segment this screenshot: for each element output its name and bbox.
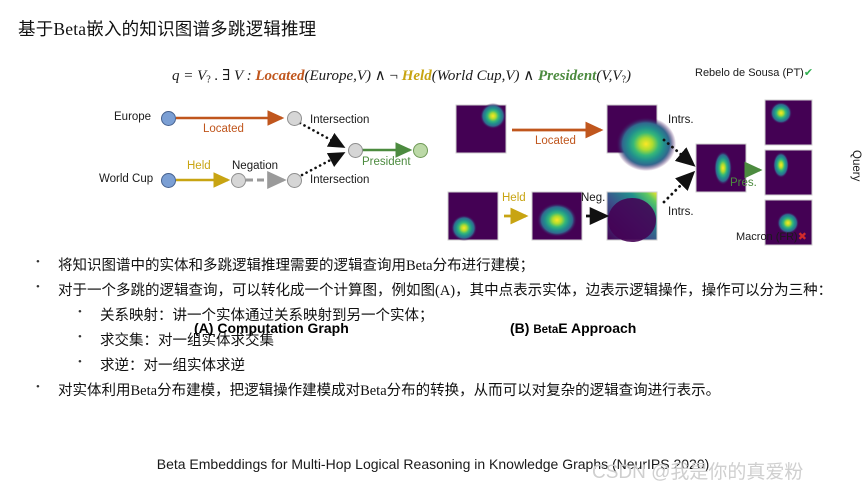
- figure-region: Europe World Cup Located Held Negation I…: [0, 92, 866, 252]
- result-label-incorrect: Macron (FR)✖: [736, 230, 807, 243]
- panel-europe-embedding: [456, 103, 506, 153]
- panel-negation-embedding: [607, 192, 657, 242]
- formula-prefix: q = V: [172, 68, 206, 84]
- bullet-list: 将知识图谱中的实体和多跳逻辑推理需要的逻辑查询用Beta分布进行建模； 对于一个…: [14, 255, 860, 405]
- edge-label-intersection-bottom: Intersection: [310, 174, 369, 186]
- paper-citation: Beta Embeddings for Multi-Hop Logical Re…: [0, 456, 866, 472]
- formula-relation-president: President: [538, 68, 596, 84]
- computation-graph-svg: [104, 92, 434, 202]
- check-icon: ✔: [804, 67, 813, 79]
- betae-approach-panel: Located Held Neg. Intrs. Intrs. Pres. Re…: [440, 92, 866, 252]
- edge-label-negation: Negation: [232, 160, 278, 172]
- node-label-europe: Europe: [114, 111, 151, 123]
- op-label-held: Held: [502, 192, 526, 204]
- page-title: 基于Beta嵌入的知识图谱多跳逻辑推理: [18, 16, 316, 41]
- formula-conj-2: ∧: [520, 68, 538, 84]
- result-label-correct: Rebelo de Sousa (PT)✔: [695, 66, 813, 79]
- formula-args-3-close: ): [626, 68, 631, 84]
- cross-icon: ✖: [798, 231, 807, 243]
- edge-intersection-top: [300, 123, 342, 146]
- bullet-item: 对实体利用Beta分布建模，把逻辑操作建模成对Beta分布的转换，从而可以对复杂…: [14, 380, 860, 402]
- panel-worldcup-embedding: [448, 192, 498, 241]
- betae-svg: [440, 92, 866, 252]
- panel-located-embedding: [607, 105, 676, 171]
- logical-query-formula: q = V? . ∃ V : Located(Europe,V) ∧ ¬ Hel…: [172, 66, 631, 86]
- edge-label-intersection-top: Intersection: [310, 114, 369, 126]
- formula-args-2: (World Cup,V): [432, 68, 520, 84]
- bullet-item: 求交集：对一组实体求交集: [14, 330, 860, 352]
- op-label-intrs-top: Intrs.: [668, 114, 694, 126]
- panel-answer-top: [765, 100, 812, 145]
- edge-label-president: President: [362, 156, 411, 168]
- op-label-negation: Neg.: [581, 192, 605, 204]
- edge-intersection-bottom: [302, 154, 342, 175]
- formula-args-3-open: (V,V: [596, 68, 621, 84]
- formula-quantifier: . ∃ V :: [211, 68, 256, 84]
- edge-label-held: Held: [187, 160, 211, 172]
- bullet-item: 将知识图谱中的实体和多跳逻辑推理需要的逻辑查询用Beta分布进行建模；: [14, 255, 860, 277]
- slide-canvas: 基于Beta嵌入的知识图谱多跳逻辑推理 q = V? . ∃ V : Locat…: [0, 0, 866, 487]
- node-answer[interactable]: [413, 143, 428, 158]
- op-label-located: Located: [535, 135, 576, 147]
- formula-relation-held: Held: [402, 68, 432, 84]
- bullet-item: 求逆：对一组实体求逆: [14, 355, 860, 377]
- node-europe[interactable]: [161, 111, 176, 126]
- formula-relation-located: Located: [255, 68, 304, 84]
- edge-label-located: Located: [203, 123, 244, 135]
- op-label-intrs-bottom: Intrs.: [668, 206, 694, 218]
- bullet-item: 对于一个多跳的逻辑查询，可以转化成一个计算图，例如图(A)，其中点表示实体，边表…: [14, 280, 860, 302]
- node-world-cup[interactable]: [161, 173, 176, 188]
- panel-answer-query: [765, 150, 812, 195]
- node-held-output[interactable]: [231, 173, 246, 188]
- node-located-output[interactable]: [287, 111, 302, 126]
- formula-args-1: (Europe,V): [305, 68, 372, 84]
- arrow-intrs-bottom: [664, 176, 690, 202]
- panel-held-embedding: [532, 192, 582, 240]
- node-label-world-cup: World Cup: [99, 173, 153, 185]
- node-negation-output[interactable]: [287, 173, 302, 188]
- bullet-item: 关系映射：讲一个实体通过关系映射到另一个实体；: [14, 305, 860, 327]
- formula-conj-1: ∧ ¬: [371, 68, 402, 84]
- query-side-label: Query: [816, 150, 862, 181]
- node-intersection-output[interactable]: [348, 143, 363, 158]
- computation-graph-panel: Europe World Cup Located Held Negation I…: [104, 92, 434, 202]
- op-label-president: Pres.: [730, 177, 757, 189]
